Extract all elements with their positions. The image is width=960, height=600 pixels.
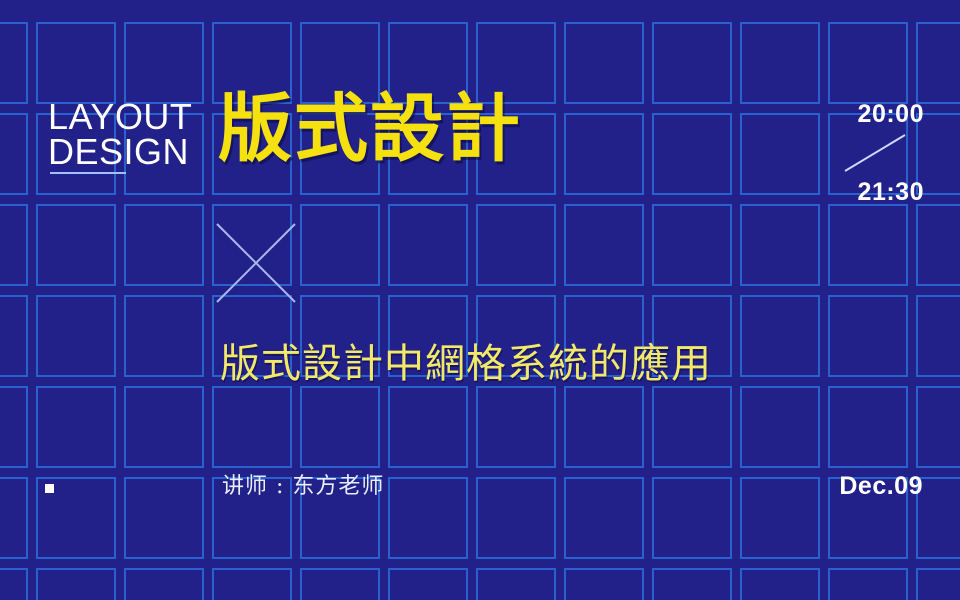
grid-cell <box>740 295 820 377</box>
grid-cell <box>0 22 28 104</box>
square-dot-icon <box>45 484 54 493</box>
grid-cell <box>0 477 28 559</box>
grid-cell <box>740 113 820 195</box>
start-time-label: 20:00 <box>858 100 924 129</box>
grid-cell <box>652 386 732 468</box>
grid-cell <box>740 568 820 600</box>
grid-cell <box>916 568 960 600</box>
grid-cell <box>916 204 960 286</box>
grid-cell <box>124 22 204 104</box>
grid-cell <box>916 295 960 377</box>
grid-cell <box>124 568 204 600</box>
grid-cell <box>652 204 732 286</box>
grid-cell <box>0 113 28 195</box>
grid-cell <box>124 386 204 468</box>
grid-cell <box>0 204 28 286</box>
grid-cell <box>740 386 820 468</box>
grid-cell <box>476 477 556 559</box>
grid-cell <box>564 113 644 195</box>
grid-cell <box>36 295 116 377</box>
grid-cell <box>0 386 28 468</box>
grid-cell <box>36 204 116 286</box>
grid-cell <box>0 568 28 600</box>
grid-cell <box>652 22 732 104</box>
grid-cell <box>36 22 116 104</box>
grid-cell <box>828 295 908 377</box>
grid-cell <box>652 477 732 559</box>
grid-cell <box>740 477 820 559</box>
grid-cell <box>828 22 908 104</box>
grid-cell <box>300 204 380 286</box>
grid-cell <box>124 295 204 377</box>
date-label: Dec.09 <box>839 472 923 501</box>
grid-cell <box>652 568 732 600</box>
grid-cell <box>916 386 960 468</box>
grid-cell <box>564 22 644 104</box>
poster-canvas: LAYOUT DESIGN 版式設計 版式設計中網格系統的應用 讲师 : 东方老… <box>0 0 960 600</box>
grid-cell <box>740 22 820 104</box>
eyebrow-underline-rule <box>50 172 126 174</box>
grid-cell <box>564 568 644 600</box>
eyebrow-label: LAYOUT DESIGN <box>48 100 192 170</box>
page-title: 版式設計 <box>218 92 522 166</box>
grid-cell <box>652 113 732 195</box>
grid-cell <box>388 568 468 600</box>
subtitle-text: 版式設計中網格系統的應用 <box>220 342 712 386</box>
presenter-label: 讲师 : 东方老师 <box>222 468 384 500</box>
grid-cell <box>300 386 380 468</box>
cross-mark-icon <box>215 222 297 304</box>
grid-cell <box>564 386 644 468</box>
end-time-label: 21:30 <box>858 178 924 207</box>
grid-cell <box>212 386 292 468</box>
grid-cell <box>828 204 908 286</box>
grid-cell <box>212 568 292 600</box>
grid-cell <box>124 204 204 286</box>
grid-cell <box>0 295 28 377</box>
grid-cell <box>740 204 820 286</box>
grid-cell <box>828 386 908 468</box>
grid-cell <box>828 568 908 600</box>
grid-cell <box>36 386 116 468</box>
grid-cell <box>564 477 644 559</box>
grid-cell <box>300 568 380 600</box>
grid-cell <box>476 568 556 600</box>
grid-cell <box>564 204 644 286</box>
grid-cell <box>916 22 960 104</box>
grid-cell <box>388 386 468 468</box>
grid-cell <box>124 477 204 559</box>
grid-cell <box>476 386 556 468</box>
diagonal-slash-icon <box>843 133 907 173</box>
grid-cell <box>388 204 468 286</box>
grid-cell <box>388 477 468 559</box>
grid-cell <box>36 568 116 600</box>
grid-cell <box>476 204 556 286</box>
